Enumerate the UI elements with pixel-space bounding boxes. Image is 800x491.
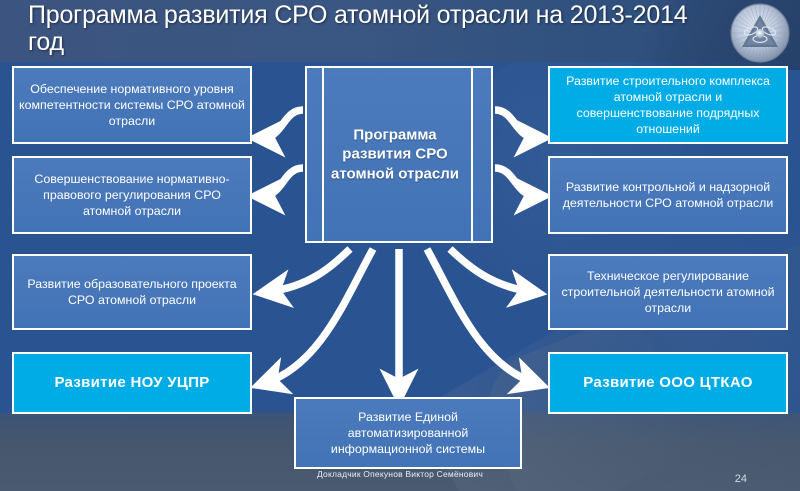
right-box-3[interactable]: Техническое регулирование строительной д… <box>548 254 788 330</box>
slide-title: Программа развития СРО атомной отрасли н… <box>28 2 688 56</box>
hub-label: Программа развития СРО атомной отрасли <box>325 125 465 184</box>
left-box-2[interactable]: Совершенствование нормативно-правового р… <box>12 156 252 234</box>
presenter-footer: Докладчик Опекунов Виктор Семёнович <box>0 469 800 479</box>
right-box-2-label: Развитие контрольной и надзорной деятель… <box>555 179 781 211</box>
atom-emblem-logo <box>729 2 791 64</box>
slide-number: 24 <box>735 473 747 485</box>
right-box-4[interactable]: Развитие ООО ЦТКАО <box>548 352 788 414</box>
hub-divider-right <box>471 68 473 241</box>
left-box-4-label: Развитие НОУ УЦПР <box>54 373 209 393</box>
bottom-box-label: Развитие Единой автоматизированной инфор… <box>301 409 515 457</box>
right-box-3-label: Техническое регулирование строительной д… <box>555 268 781 316</box>
left-box-4[interactable]: Развитие НОУ УЦПР <box>12 352 252 414</box>
left-box-1-label: Обеспечение нормативного уровня компетен… <box>19 81 245 129</box>
right-box-1[interactable]: Развитие строительного комплекса атомной… <box>548 66 788 144</box>
central-hub-box[interactable]: Программа развития СРО атомной отрасли <box>305 66 493 243</box>
right-box-2[interactable]: Развитие контрольной и надзорной деятель… <box>548 156 788 234</box>
left-box-1[interactable]: Обеспечение нормативного уровня компетен… <box>12 66 252 144</box>
slide-canvas: Программа развития СРО атомной отрасли н… <box>0 0 800 491</box>
left-box-3[interactable]: Развитие образовательного проекта СРО ат… <box>12 254 252 330</box>
hub-divider-left <box>322 68 324 241</box>
right-box-4-label: Развитие ООО ЦТКАО <box>583 373 752 393</box>
bottom-box[interactable]: Развитие Единой автоматизированной инфор… <box>294 397 522 469</box>
right-box-1-label: Развитие строительного комплекса атомной… <box>555 73 781 138</box>
left-box-2-label: Совершенствование нормативно-правового р… <box>19 171 245 219</box>
left-box-3-label: Развитие образовательного проекта СРО ат… <box>19 276 245 308</box>
